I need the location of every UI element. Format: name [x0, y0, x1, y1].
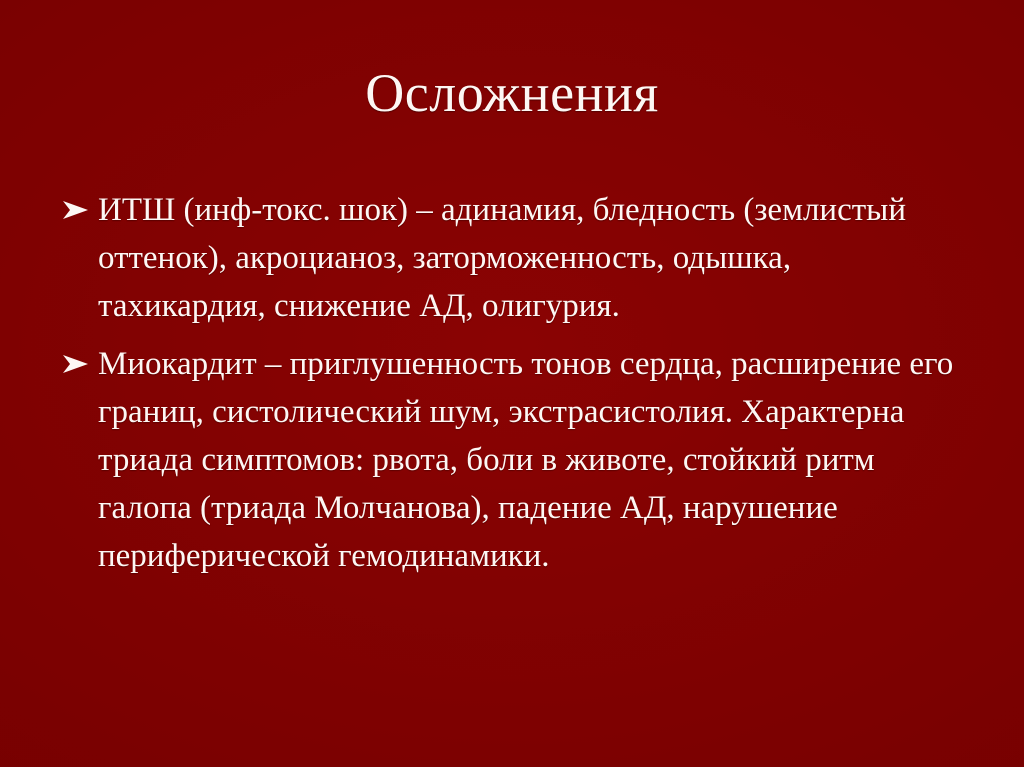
- presentation-slide: Осложнения ИТШ (инф-токс. шок) – адинами…: [0, 0, 1024, 767]
- list-item: ИТШ (инф-токс. шок) – адинамия, бледност…: [62, 186, 962, 330]
- list-item: Миокардит – приглушенность тонов сердца,…: [62, 340, 962, 580]
- page-title: Осложнения: [0, 62, 1024, 124]
- list-item-text: ИТШ (инф-токс. шок) – адинамия, бледност…: [98, 186, 962, 330]
- list-item-text: Миокардит – приглушенность тонов сердца,…: [98, 340, 962, 580]
- bullet-list: ИТШ (инф-токс. шок) – адинамия, бледност…: [62, 186, 962, 580]
- arrowhead-bullet-icon: [62, 198, 90, 222]
- arrowhead-bullet-icon: [62, 352, 90, 376]
